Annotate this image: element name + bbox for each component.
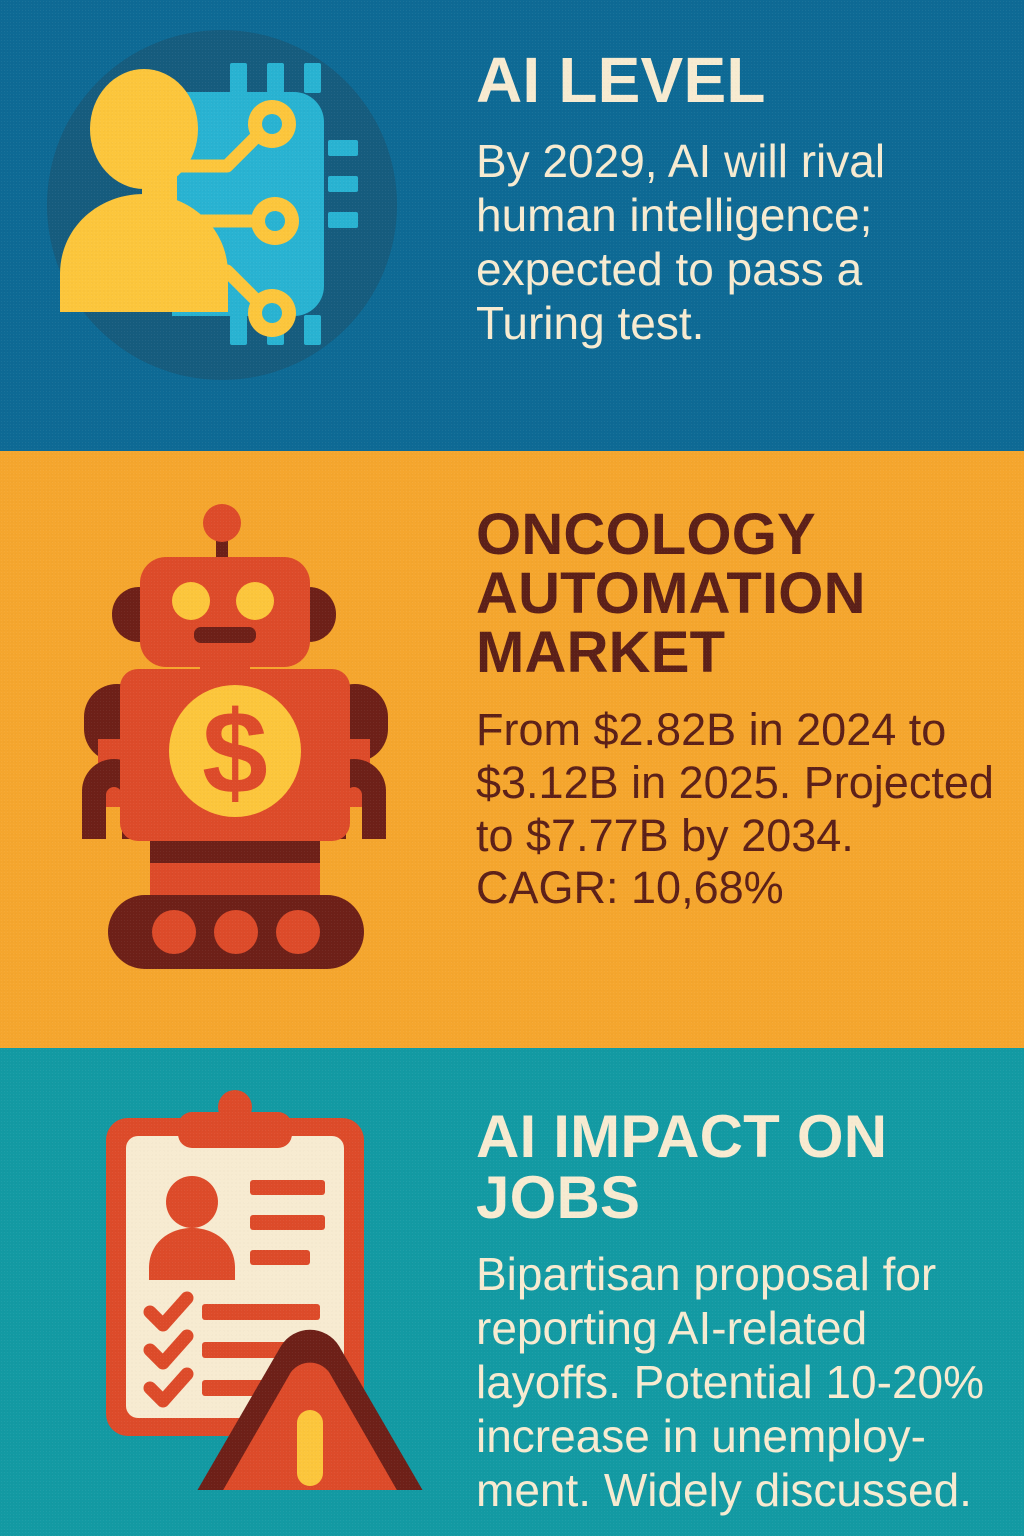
jobs-text-block: AI IMPACT ON JOBS Bipartisan proposal fo… — [476, 1106, 996, 1517]
ai-human-chip-icon — [22, 16, 422, 436]
ai-level-headline: AI LEVEL — [476, 48, 996, 113]
ai-level-body: By 2029, AI will rival human intelligenc… — [476, 135, 996, 350]
section-ai-level: AI LEVEL By 2029, AI will rival human in… — [0, 0, 1024, 451]
market-body: From $2.82B in 2024 to $3.12B in 2025. P… — [476, 704, 996, 915]
ai-level-text-block: AI LEVEL By 2029, AI will rival human in… — [476, 48, 996, 351]
section-oncology-automation-market: $ ONCOLOGY AUTOMATION MARKET From $2.82B… — [0, 451, 1024, 1048]
market-headline: ONCOLOGY AUTOMATION MARKET — [476, 505, 996, 682]
infographic-canvas: AI LEVEL By 2029, AI will rival human in… — [0, 0, 1024, 1536]
market-icon-slot: $ — [0, 451, 460, 1048]
clipboard-warning-icon — [88, 1090, 458, 1490]
jobs-icon-slot — [0, 1048, 460, 1536]
market-text-block: ONCOLOGY AUTOMATION MARKET From $2.82B i… — [476, 505, 996, 915]
section-ai-impact-on-jobs: AI IMPACT ON JOBS Bipartisan proposal fo… — [0, 1048, 1024, 1536]
svg-text:$: $ — [202, 687, 268, 819]
jobs-body: Bipartisan proposal for reporting AI-rel… — [476, 1248, 996, 1517]
ai-level-icon-slot — [0, 0, 460, 451]
jobs-headline: AI IMPACT ON JOBS — [476, 1106, 996, 1228]
money-robot-icon: $ — [70, 499, 410, 979]
